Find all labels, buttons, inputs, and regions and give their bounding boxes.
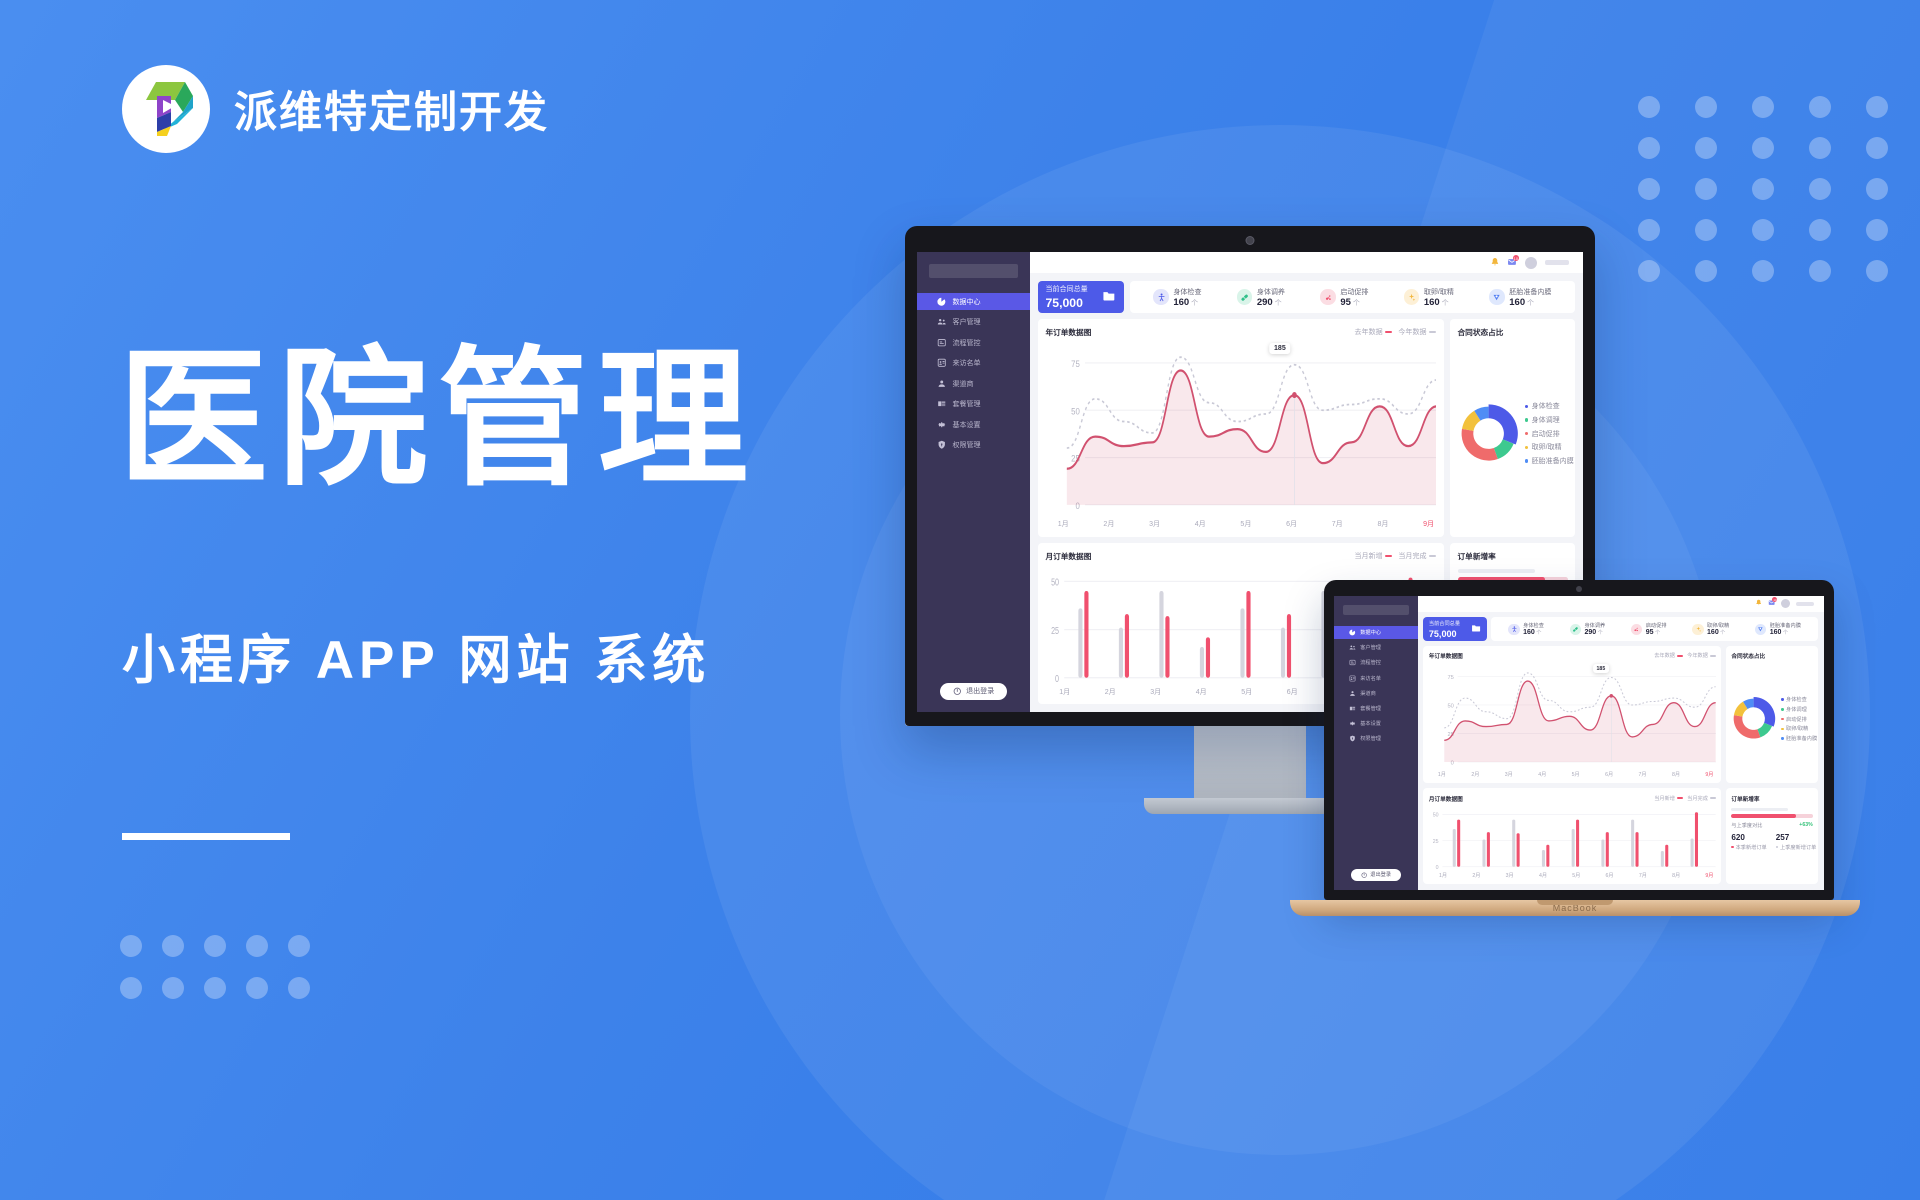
stat-item-0[interactable]: 身体检查160 个	[1508, 622, 1543, 636]
stat-card-total-contracts[interactable]: 当前合同总量75,000	[1423, 617, 1486, 641]
chart-row-1: 年订单数据图去年数据今年数据 0255075 1851月2月3月4月5月6月7月…	[1423, 646, 1818, 784]
panel-contract-status: 合同状态占比身体检查身体调理启动促排取卵/取精胚胎准备内膜	[1726, 646, 1819, 784]
dashboard-sidebar: 数据中心客户管理流程管控来访名单渠道商套餐管理基本设置权限管理退出登录	[917, 252, 1030, 712]
stat-value: 75,000	[1046, 296, 1088, 310]
dashboard-main: 10当前合同总量75,000身体检查160 个身体调养290 个启动促排95 个…	[1418, 596, 1824, 890]
panel-header: 年订单数据图去年数据今年数据	[1046, 327, 1437, 338]
donut-legend-item-3: 取卵/取精	[1781, 725, 1817, 732]
svg-text:50: 50	[1447, 703, 1453, 709]
donut-legend-item-1: 身体调理	[1781, 706, 1817, 713]
sidebar-item-label: 流程管控	[952, 338, 980, 348]
decorative-dot	[204, 935, 226, 957]
folder-icon	[1471, 623, 1481, 635]
legend-label: 启动促排	[1786, 716, 1807, 723]
growth-progress-bar	[1731, 814, 1812, 818]
growth-metric-value: 620	[1731, 833, 1766, 842]
axis-tick-label: 3月	[1150, 687, 1161, 697]
pill-icon	[1237, 289, 1252, 304]
axis-tick-label: 2月	[1471, 771, 1479, 778]
growth-metric-label-text: 上季度新增订单	[1780, 844, 1816, 851]
sidebar-item-label: 来访名单	[952, 358, 980, 368]
axis-tick-label: 5月	[1572, 872, 1580, 879]
sidebar-item-label: 权限管理	[1360, 735, 1381, 742]
person-icon	[1153, 289, 1168, 304]
sidebar-item-7[interactable]: 权限管理	[1334, 732, 1418, 744]
dashboard-header: 10	[1030, 252, 1583, 273]
molecule-icon	[1320, 289, 1335, 304]
legend-swatch	[1677, 797, 1683, 798]
decorative-dot	[162, 977, 184, 999]
laptop-mockup: 数据中心客户管理流程管控来访名单渠道商套餐管理基本设置权限管理退出登录10当前合…	[1290, 580, 1860, 916]
line-chart-x-axis: 1月2月3月4月5月6月7月8月9月	[1046, 519, 1437, 529]
svg-text:75: 75	[1071, 358, 1080, 369]
sidebar-item-5[interactable]: 套餐管理	[917, 396, 1030, 413]
user-icon	[1349, 690, 1356, 697]
stat-label: 身体检查	[1173, 287, 1201, 297]
legend-item-1: 今年数据	[1687, 652, 1715, 659]
panel-contract-status: 合同状态占比身体检查身体调理启动促排取卵/取精胚胎准备内膜	[1450, 319, 1575, 537]
panel-order-growth-rate: 订单新增率与上季度对比+63%620本季新增订单257上季度新增订单	[1726, 788, 1819, 884]
stat-unit: 个	[1596, 630, 1603, 636]
growth-placeholder-bar	[1458, 569, 1535, 573]
decorative-dot	[1866, 96, 1888, 118]
sidebar-item-label: 客户管理	[952, 317, 980, 327]
legend-swatch	[1710, 655, 1716, 656]
logout-button[interactable]: 退出登录	[1351, 869, 1401, 881]
stat-label: 身体调养	[1584, 622, 1605, 629]
panel-title: 订单新增率	[1458, 551, 1568, 562]
chart-row-2: 月订单数据图当月新增当月完成025501月2月3月4月5月6月7月8月9月订单新…	[1423, 788, 1818, 884]
sidebar-item-4[interactable]: 渠道商	[1334, 687, 1418, 699]
title-divider	[122, 833, 290, 840]
stat-label: 当前合同总量	[1046, 284, 1088, 294]
legend-label: 今年数据	[1687, 652, 1708, 659]
legend-swatch	[1710, 797, 1716, 798]
avatar-name-placeholder	[1796, 602, 1814, 606]
bar-chart-legend: 当月新增当月完成	[1654, 795, 1715, 802]
growth-placeholder-bar	[1731, 808, 1788, 811]
svg-text:0: 0	[1436, 865, 1439, 871]
legend-swatch	[1781, 698, 1783, 700]
legend-swatch	[1781, 728, 1783, 730]
sidebar-item-4[interactable]: 渠道商	[917, 375, 1030, 392]
decorative-dot	[1695, 96, 1717, 118]
legend-swatch	[1677, 655, 1683, 656]
panel-monthly-orders: 月订单数据图当月新增当月完成025501月2月3月4月5月6月7月8月9月	[1423, 788, 1721, 884]
legend-swatch	[1731, 846, 1733, 848]
growth-metric-current: 620本季新增订单	[1731, 833, 1766, 851]
axis-tick-label: 8月	[1672, 771, 1680, 778]
dashboard-sidebar: 数据中心客户管理流程管控来访名单渠道商套餐管理基本设置权限管理退出登录	[1334, 596, 1418, 890]
panel-title: 订单新增率	[1731, 794, 1812, 803]
stat-unit: 个	[1351, 300, 1360, 307]
legend-label: 今年数据	[1398, 327, 1426, 337]
flow-icon	[1349, 659, 1356, 666]
stat-value: 95	[1646, 629, 1654, 636]
decorative-dot	[246, 935, 268, 957]
stat-item-1[interactable]: 身体调养290 个	[1237, 287, 1285, 308]
svg-text:50: 50	[1071, 406, 1080, 417]
stat-value: 160	[1523, 629, 1535, 636]
axis-tick-label: 2月	[1105, 687, 1116, 697]
stat-value: 160	[1707, 629, 1719, 636]
decorative-dot	[1809, 178, 1831, 200]
legend-item-0: 当月新增	[1355, 551, 1393, 561]
legend-swatch	[1385, 331, 1393, 333]
sparkle-icon	[1692, 624, 1703, 635]
legend-label: 去年数据	[1654, 652, 1675, 659]
axis-tick-label: 9月	[1705, 872, 1713, 879]
decorative-dot	[1752, 260, 1774, 282]
legend-swatch	[1781, 708, 1783, 710]
legend-item-1: 当月完成	[1398, 551, 1436, 561]
legend-swatch	[1781, 718, 1783, 720]
axis-tick-label: 3月	[1149, 519, 1160, 529]
panel-annual-orders: 年订单数据图去年数据今年数据 0255075 1851月2月3月4月5月6月7月…	[1423, 646, 1721, 784]
panel-header: 月订单数据图当月新增当月完成	[1429, 794, 1716, 803]
donut-legend-item-3: 取卵/取精	[1525, 442, 1574, 452]
sparkle-icon	[1404, 289, 1419, 304]
sidebar-item-label: 数据中心	[1360, 629, 1381, 636]
axis-tick-label: 7月	[1639, 872, 1647, 879]
decorative-dot	[120, 977, 142, 999]
axis-tick-label: 4月	[1538, 771, 1546, 778]
growth-metric-value: 257	[1776, 833, 1817, 842]
axis-tick-label: 1月	[1438, 771, 1446, 778]
stat-label: 启动促排	[1340, 287, 1368, 297]
stat-item-2[interactable]: 启动促排95 个	[1320, 287, 1368, 308]
pill-icon	[1570, 624, 1581, 635]
avatar[interactable]	[1781, 599, 1790, 608]
panel-title: 合同状态占比	[1731, 651, 1812, 660]
axis-tick-label: 5月	[1240, 519, 1251, 529]
stat-unit: 个	[1535, 630, 1542, 636]
sidebar-item-label: 渠道商	[952, 379, 973, 389]
panel-title: 月订单数据图	[1429, 794, 1463, 803]
legend-swatch	[1781, 737, 1783, 739]
legend-label: 身体检查	[1786, 696, 1807, 703]
donut-legend-item-0: 身体检查	[1781, 696, 1817, 703]
axis-tick-label: 6月	[1286, 519, 1297, 529]
legend-label: 当月新增	[1355, 551, 1383, 561]
donut-chart: 身体检查身体调理启动促排取卵/取精胚胎准备内膜	[1458, 338, 1568, 529]
legend-swatch	[1525, 432, 1528, 435]
axis-tick-label: 5月	[1572, 771, 1580, 778]
stat-label: 身体检查	[1523, 622, 1544, 629]
sidebar-item-label: 渠道商	[1360, 690, 1376, 697]
line-chart-x-axis: 1月2月3月4月5月6月7月8月9月	[1429, 771, 1716, 778]
stat-unit: 个	[1273, 300, 1282, 307]
sidebar-item-label: 流程管控	[1360, 659, 1381, 666]
axis-tick-label: 7月	[1639, 771, 1647, 778]
svg-text:50: 50	[1433, 813, 1439, 819]
stat-item-1[interactable]: 身体调养290 个	[1570, 622, 1605, 636]
laptop-base: MacBook	[1290, 900, 1860, 916]
donut-legend-item-0: 身体检查	[1525, 401, 1574, 411]
notification-badge: 10	[1772, 597, 1777, 602]
bell-icon[interactable]	[1490, 257, 1500, 269]
sidebar-item-label: 权限管理	[952, 440, 980, 450]
axis-tick-label: 1月	[1058, 519, 1069, 529]
users-icon	[937, 317, 946, 326]
panel-title: 合同状态占比	[1458, 327, 1568, 338]
embryo-icon	[1489, 289, 1504, 304]
legend-label: 身体调理	[1786, 706, 1807, 713]
logout-label: 退出登录	[1370, 871, 1391, 878]
decorative-dot	[1752, 219, 1774, 241]
sidebar-item-label: 套餐管理	[1360, 705, 1381, 712]
sidebar-item-2[interactable]: 流程管控	[917, 334, 1030, 351]
stat-card-total-contracts[interactable]: 当前合同总量75,000	[1038, 281, 1124, 313]
decorative-dot	[1695, 219, 1717, 241]
decorative-dot	[1809, 219, 1831, 241]
camera-icon	[1246, 236, 1255, 245]
decorative-dot	[120, 935, 142, 957]
legend-label: 胚胎准备内膜	[1786, 735, 1817, 742]
mail-icon[interactable]: 10	[1507, 257, 1517, 269]
decorative-dot	[1695, 260, 1717, 282]
sidebar-item-3[interactable]: 来访名单	[1334, 672, 1418, 684]
brand-name: 派维特定制开发	[234, 78, 549, 140]
legend-label: 启动促排	[1532, 429, 1560, 439]
sidebar-item-5[interactable]: 套餐管理	[1334, 702, 1418, 714]
power-icon	[1361, 872, 1367, 878]
stat-item-2[interactable]: 启动促排95 个	[1631, 622, 1666, 636]
folder-icon	[1102, 289, 1116, 305]
sidebar-item-1[interactable]: 客户管理	[1334, 642, 1418, 654]
axis-tick-label: 3月	[1506, 872, 1514, 879]
axis-tick-label: 8月	[1377, 519, 1388, 529]
sidebar-item-2[interactable]: 流程管控	[1334, 657, 1418, 669]
decorative-dot	[1695, 137, 1717, 159]
stat-item-0[interactable]: 身体检查160 个	[1153, 287, 1201, 308]
axis-tick-label: 1月	[1059, 687, 1070, 697]
svg-text:25: 25	[1051, 625, 1059, 636]
stat-value: 160	[1173, 297, 1189, 308]
axis-tick-label: 9月	[1423, 519, 1434, 529]
user-icon	[937, 379, 946, 388]
donut-chart: 身体检查身体调理启动促排取卵/取精胚胎准备内膜	[1731, 660, 1812, 777]
decorative-dot	[162, 935, 184, 957]
stat-value: 160	[1509, 297, 1525, 308]
growth-metric-label: 上季度新增订单	[1776, 844, 1817, 851]
stat-unit: 个	[1781, 630, 1788, 636]
stat-value: 160	[1770, 629, 1782, 636]
sidebar-item-6[interactable]: 基本设置	[917, 416, 1030, 433]
decorative-dot	[1695, 178, 1717, 200]
package-icon	[1349, 705, 1356, 712]
decorative-dot	[1866, 178, 1888, 200]
growth-comparison: 与上季度对比+63%	[1731, 822, 1812, 829]
legend-swatch	[1776, 846, 1778, 848]
sidebar-item-label: 来访名单	[1360, 675, 1381, 682]
pie-chart-icon	[1349, 629, 1356, 636]
axis-tick-label: 3月	[1505, 771, 1513, 778]
growth-metric-label-text: 本季新增订单	[1736, 844, 1767, 851]
donut-legend-item-2: 启动促排	[1781, 716, 1817, 723]
line-chart-legend: 去年数据今年数据	[1355, 327, 1437, 337]
bar-chart-legend: 当月新增当月完成	[1355, 551, 1437, 561]
growth-metrics: 620本季新增订单257上季度新增订单	[1731, 833, 1812, 851]
stat-label: 启动促排	[1646, 622, 1667, 629]
package-icon	[937, 399, 946, 408]
legend-swatch	[1525, 446, 1528, 449]
page-title: 医院管理	[118, 340, 758, 499]
sidebar-item-label: 客户管理	[1360, 644, 1381, 651]
stat-unit: 个	[1719, 630, 1726, 636]
growth-progress-fill	[1731, 814, 1795, 818]
legend-swatch	[1385, 555, 1393, 557]
legend-label: 去年数据	[1355, 327, 1383, 337]
bar-chart-x-axis: 1月2月3月4月5月6月7月8月9月	[1429, 872, 1716, 879]
axis-tick-label: 6月	[1605, 771, 1613, 778]
embryo-icon	[1755, 624, 1766, 635]
sidebar-item-label: 套餐管理	[952, 399, 980, 409]
stats-row: 当前合同总量75,000身体检查160 个身体调养290 个启动促排95 个取卵…	[1423, 617, 1818, 641]
avatar[interactable]	[1525, 257, 1537, 269]
sidebar-item-7[interactable]: 权限管理	[917, 437, 1030, 454]
legend-swatch	[1525, 405, 1528, 408]
legend-item-0: 当月新增	[1654, 795, 1682, 802]
dashboard-screen-laptop: 数据中心客户管理流程管控来访名单渠道商套餐管理基本设置权限管理退出登录10当前合…	[1334, 596, 1824, 890]
axis-tick-label: 8月	[1672, 872, 1680, 879]
legend-item-1: 今年数据	[1398, 327, 1436, 337]
decorative-dot	[204, 977, 226, 999]
axis-tick-label: 6月	[1606, 872, 1614, 879]
stat-value: 290	[1584, 629, 1596, 636]
decorative-dot	[1752, 96, 1774, 118]
decorative-dot	[1866, 260, 1888, 282]
decorative-dot	[1809, 96, 1831, 118]
gear-icon	[937, 420, 946, 429]
sidebar-item-0[interactable]: 数据中心	[1334, 626, 1418, 638]
stat-value: 75,000	[1429, 629, 1460, 639]
sidebar-item-6[interactable]: 基本设置	[1334, 717, 1418, 729]
dot-grid-top-right	[1638, 96, 1920, 301]
legend-swatch	[1525, 459, 1528, 462]
bell-icon[interactable]	[1755, 599, 1762, 608]
donut-legend-item-4: 胚胎准备内膜	[1525, 456, 1574, 466]
stat-unit: 个	[1525, 300, 1534, 307]
page-subtitle: 小程序 APP 网站 系统	[122, 618, 710, 694]
legend-item-0: 去年数据	[1355, 327, 1393, 337]
axis-tick-label: 1月	[1439, 872, 1447, 879]
legend-label: 取卵/取精	[1786, 725, 1808, 732]
shield-icon	[937, 440, 946, 449]
sidebar-item-3[interactable]: 来访名单	[917, 355, 1030, 372]
growth-compare-label: 与上季度对比	[1731, 822, 1762, 829]
stat-value: 160	[1424, 297, 1440, 308]
stat-item-4[interactable]: 胚胎准备内膜160 个	[1755, 622, 1801, 636]
stat-item-3[interactable]: 取卵/取精160 个	[1692, 622, 1729, 636]
growth-compare-value: +63%	[1799, 822, 1812, 828]
pivot-play-logo-icon	[122, 65, 210, 153]
donut-legend-item-4: 胚胎准备内膜	[1781, 735, 1817, 742]
axis-tick-label: 5月	[1241, 687, 1252, 697]
person-icon	[1508, 624, 1519, 635]
sidebar-item-0[interactable]: 数据中心	[917, 293, 1030, 310]
decorative-dot	[1752, 137, 1774, 159]
axis-tick-label: 4月	[1539, 872, 1547, 879]
bar-chart: 02550	[1429, 806, 1716, 871]
mail-icon[interactable]: 10	[1768, 599, 1775, 608]
line-chart: 0255075 185	[1046, 344, 1437, 518]
svg-text:25: 25	[1433, 839, 1439, 845]
power-icon	[953, 687, 962, 696]
stat-label: 取卵/取精	[1424, 287, 1454, 297]
id-card-icon	[937, 358, 946, 367]
stat-value: 290	[1257, 297, 1273, 308]
donut-legend: 身体检查身体调理启动促排取卵/取精胚胎准备内膜	[1781, 696, 1817, 742]
stat-value: 95	[1340, 297, 1351, 308]
stats-card-group: 身体检查160 个身体调养290 个启动促排95 个取卵/取精160 个胚胎准备…	[1491, 617, 1818, 641]
decorative-dot	[288, 977, 310, 999]
decorative-dot	[1752, 178, 1774, 200]
legend-swatch	[1429, 331, 1437, 333]
growth-metric-label: 本季新增订单	[1731, 844, 1766, 851]
stat-label: 胚胎准备内膜	[1509, 287, 1551, 297]
decorative-dot	[246, 977, 268, 999]
decorative-dot	[1638, 260, 1660, 282]
decorative-dot	[1638, 96, 1660, 118]
decorative-dot	[1866, 137, 1888, 159]
panel-annual-orders: 年订单数据图去年数据今年数据 0255075 1851月2月3月4月5月6月7月…	[1038, 319, 1444, 537]
legend-label: 胚胎准备内膜	[1532, 456, 1574, 466]
stat-unit: 个	[1440, 300, 1449, 307]
chart-tooltip: 185	[1593, 664, 1609, 674]
sidebar-logo	[1343, 605, 1409, 615]
chart-row-1: 年订单数据图去年数据今年数据 0255075 1851月2月3月4月5月6月7月…	[1038, 319, 1576, 537]
laptop-lid: 数据中心客户管理流程管控来访名单渠道商套餐管理基本设置权限管理退出登录10当前合…	[1324, 580, 1834, 900]
stat-unit: 个	[1189, 300, 1198, 307]
donut-legend-item-1: 身体调理	[1525, 415, 1574, 425]
panel-header: 月订单数据图当月新增当月完成	[1046, 551, 1437, 562]
chart-tooltip: 185	[1269, 343, 1291, 355]
axis-tick-label: 4月	[1195, 519, 1206, 529]
legend-label: 取卵/取精	[1532, 442, 1562, 452]
decorative-dot	[1638, 178, 1660, 200]
dot-grid-bottom-left	[120, 935, 330, 1019]
axis-tick-label: 2月	[1103, 519, 1114, 529]
axis-tick-label: 7月	[1332, 519, 1343, 529]
axis-tick-label: 9月	[1705, 771, 1713, 778]
donut-legend-item-2: 启动促排	[1525, 429, 1574, 439]
decorative-dot	[1866, 219, 1888, 241]
laptop-notch	[1537, 900, 1613, 905]
svg-text:0: 0	[1055, 673, 1059, 684]
brand-lockup: 派维特定制开发	[122, 65, 549, 153]
legend-label: 身体检查	[1532, 401, 1560, 411]
legend-label: 当月新增	[1654, 795, 1675, 802]
decorative-dot	[288, 935, 310, 957]
shield-icon	[1349, 735, 1356, 742]
gear-icon	[1349, 720, 1356, 727]
sidebar-item-label: 基本设置	[1360, 720, 1381, 727]
panel-title: 年订单数据图	[1429, 651, 1463, 660]
panel-title: 年订单数据图	[1046, 327, 1092, 338]
stat-item-4[interactable]: 胚胎准备内膜160 个	[1489, 287, 1551, 308]
sidebar-item-1[interactable]: 客户管理	[917, 314, 1030, 331]
decorative-dot	[1638, 137, 1660, 159]
logout-label: 退出登录	[966, 686, 994, 696]
dashboard-header: 10	[1418, 596, 1824, 612]
stat-item-3[interactable]: 取卵/取精160 个	[1404, 287, 1454, 308]
stat-label: 身体调养	[1257, 287, 1285, 297]
logout-button[interactable]: 退出登录	[940, 683, 1007, 700]
legend-swatch	[1525, 418, 1528, 421]
axis-tick-label: 4月	[1196, 687, 1207, 697]
donut-legend: 身体检查身体调理启动促排取卵/取精胚胎准备内膜	[1525, 401, 1574, 466]
